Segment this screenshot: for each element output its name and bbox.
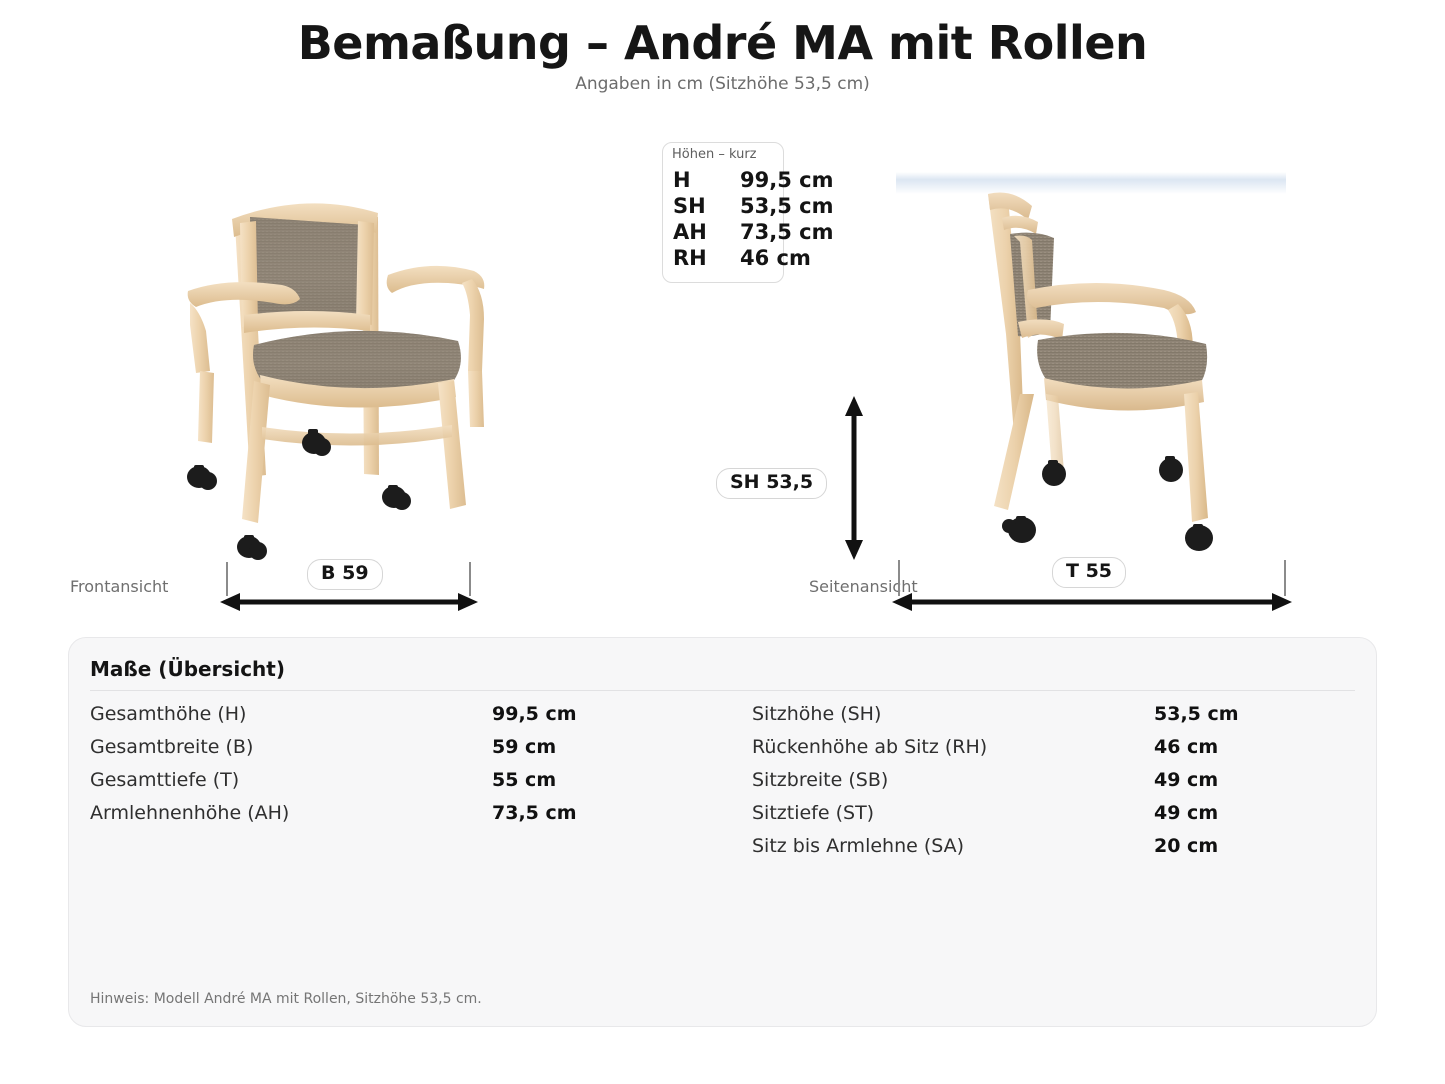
front-view-caption: Frontansicht bbox=[70, 577, 168, 596]
spec-value-rueckenhoehe: 46 cm bbox=[1154, 736, 1218, 758]
spec-label-sitzhoehe: Sitzhöhe (SH) bbox=[752, 703, 881, 725]
spec-value-sitzbreite: 49 cm bbox=[1154, 769, 1218, 791]
heights-legend-title: Höhen – kurz bbox=[672, 147, 757, 162]
spec-value-gesamttiefe: 55 cm bbox=[492, 769, 556, 791]
legend-value-ah: 73,5 cm bbox=[740, 220, 833, 244]
spec-label-gesamttiefe: Gesamttiefe (T) bbox=[90, 769, 239, 791]
dimension-badge-depth: T 55 bbox=[1052, 557, 1126, 588]
dimension-arrow-width bbox=[218, 588, 480, 616]
page-subtitle: Angaben in cm (Sitzhöhe 53,5 cm) bbox=[0, 74, 1445, 94]
spec-value-gesamthoehe: 99,5 cm bbox=[492, 703, 577, 725]
page-title: Bemaßung – André MA mit Rollen bbox=[0, 16, 1445, 70]
spec-value-sitz-bis-armlehne: 20 cm bbox=[1154, 835, 1218, 857]
legend-key-ah: AH bbox=[673, 220, 707, 244]
spec-label-gesamtbreite: Gesamtbreite (B) bbox=[90, 736, 253, 758]
spec-value-sitztiefe: 49 cm bbox=[1154, 802, 1218, 824]
spec-label-sitzbreite: Sitzbreite (SB) bbox=[752, 769, 888, 791]
chair-front-illustration bbox=[166, 175, 550, 565]
summary-note: Hinweis: Modell André MA mit Rollen, Sit… bbox=[90, 991, 482, 1007]
legend-key-h: H bbox=[673, 168, 691, 192]
legend-key-rh: RH bbox=[673, 246, 707, 270]
legend-value-sh: 53,5 cm bbox=[740, 194, 833, 218]
spec-label-sitztiefe: Sitztiefe (ST) bbox=[752, 802, 874, 824]
dimension-badge-seat-height: SH 53,5 bbox=[716, 468, 827, 499]
spec-value-sitzhoehe: 53,5 cm bbox=[1154, 703, 1239, 725]
spec-label-armlehnenhoehe: Armlehnenhöhe (AH) bbox=[90, 802, 289, 824]
spec-value-armlehnenhoehe: 73,5 cm bbox=[492, 802, 577, 824]
measurements-summary-card bbox=[68, 637, 1377, 1027]
legend-value-rh: 46 cm bbox=[740, 246, 811, 270]
chair-side-view-image bbox=[896, 172, 1286, 565]
chair-front-view-image bbox=[166, 175, 550, 565]
dimension-badge-width: B 59 bbox=[307, 559, 383, 590]
spec-label-sitz-bis-armlehne: Sitz bis Armlehne (SA) bbox=[752, 835, 964, 857]
dimension-arrow-seat-height bbox=[840, 394, 868, 562]
spec-value-gesamtbreite: 59 cm bbox=[492, 736, 556, 758]
summary-divider bbox=[90, 690, 1355, 691]
legend-key-sh: SH bbox=[673, 194, 706, 218]
measurements-summary-heading: Maße (Übersicht) bbox=[90, 657, 285, 681]
spec-label-gesamthoehe: Gesamthöhe (H) bbox=[90, 703, 246, 725]
spec-label-rueckenhoehe: Rückenhöhe ab Sitz (RH) bbox=[752, 736, 987, 758]
legend-value-h: 99,5 cm bbox=[740, 168, 833, 192]
dimension-arrow-depth bbox=[890, 588, 1294, 616]
chair-side-illustration bbox=[896, 172, 1286, 565]
